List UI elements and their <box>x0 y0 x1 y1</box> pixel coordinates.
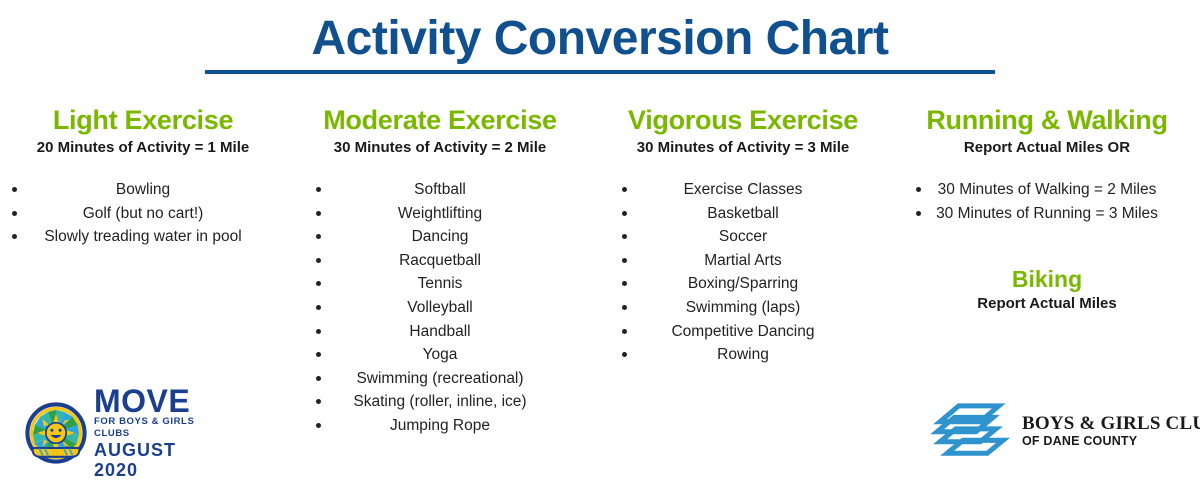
list-item: 30 Minutes of Walking = 2 Miles <box>902 178 1192 202</box>
list-item: Weightlifting <box>298 202 582 226</box>
bullet-icon <box>316 211 321 216</box>
bullet-icon <box>916 187 921 192</box>
clasped-hands-mark-icon <box>930 400 1016 462</box>
column-light-exercise: Light Exercise 20 Minutes of Activity = … <box>0 104 288 249</box>
list-item: Bowling <box>4 178 282 202</box>
column-heading: Light Exercise <box>4 104 282 136</box>
list-item-label: Bowling <box>8 178 278 202</box>
list-item: Jumping Rope <box>298 414 582 438</box>
bgc-name: BOYS & GIRLS CLUBS <box>1022 413 1200 434</box>
sun-sneaker-emblem-icon <box>22 399 90 467</box>
list-item-label: Swimming (laps) <box>606 296 880 320</box>
boys-girls-clubs-logo: BOYS & GIRLS CLUBS OF DANE COUNTY <box>930 396 1188 466</box>
column-heading: Moderate Exercise <box>298 104 582 136</box>
list-item-label: Martial Arts <box>606 249 880 273</box>
title-underline-rule <box>205 70 995 74</box>
list-item-label: Golf (but no cart!) <box>8 202 278 226</box>
list-item: Handball <box>298 320 582 344</box>
bullet-icon <box>622 187 627 192</box>
list-item-label: Handball <box>302 320 578 344</box>
list-item: Slowly treading water in pool <box>4 225 282 249</box>
activity-conversion-chart-page: Activity Conversion Chart Light Exercise… <box>0 0 1200 480</box>
list-item: Tennis <box>298 272 582 296</box>
bgc-wordmark: BOYS & GIRLS CLUBS OF DANE COUNTY <box>1022 413 1200 449</box>
list-item: Swimming (recreational) <box>298 367 582 391</box>
move-tagline: FOR BOYS & GIRLS CLUBS <box>94 416 222 440</box>
list-item: Competitive Dancing <box>602 320 884 344</box>
list-item: Rowing <box>602 343 884 367</box>
bullet-icon <box>916 211 921 216</box>
bullet-icon <box>316 258 321 263</box>
column-subheading: 20 Minutes of Activity = 1 Mile <box>4 138 282 158</box>
biking-subheading: Report Actual Miles <box>902 294 1192 314</box>
move-date: AUGUST 2020 <box>94 440 222 480</box>
list-item-label: 30 Minutes of Running = 3 Miles <box>906 202 1188 226</box>
list-item-label: Soccer <box>606 225 880 249</box>
list-item-label: Slowly treading water in pool <box>8 225 278 249</box>
list-item-label: Yoga <box>302 343 578 367</box>
bullet-icon <box>316 187 321 192</box>
list-item-label: Racquetball <box>302 249 578 273</box>
list-item-label: Tennis <box>302 272 578 296</box>
list-item-label: Weightlifting <box>302 202 578 226</box>
list-item: Soccer <box>602 225 884 249</box>
move-logo: MOVE FOR BOYS & GIRLS CLUBS AUGUST 2020 <box>22 396 222 470</box>
column-heading: Running & Walking <box>902 104 1192 136</box>
list-item-label: Exercise Classes <box>606 178 880 202</box>
list-item: Golf (but no cart!) <box>4 202 282 226</box>
column-vigorous-exercise: Vigorous Exercise 30 Minutes of Activity… <box>588 104 890 367</box>
list-item: Boxing/Sparring <box>602 272 884 296</box>
activity-list: 30 Minutes of Walking = 2 Miles 30 Minut… <box>902 178 1192 225</box>
list-item-label: Competitive Dancing <box>606 320 880 344</box>
bullet-icon <box>622 329 627 334</box>
list-item: Exercise Classes <box>602 178 884 202</box>
list-item-label: Swimming (recreational) <box>302 367 578 391</box>
list-item: Swimming (laps) <box>602 296 884 320</box>
move-word: MOVE <box>94 386 222 416</box>
list-item-label: Boxing/Sparring <box>606 272 880 296</box>
list-item: Softball <box>298 178 582 202</box>
list-item: Skating (roller, inline, ice) <box>298 390 582 414</box>
activity-list: Exercise Classes Basketball Soccer Marti… <box>602 178 884 367</box>
bullet-icon <box>316 376 321 381</box>
list-item-label: Jumping Rope <box>302 414 578 438</box>
list-item: Volleyball <box>298 296 582 320</box>
list-item: 30 Minutes of Running = 3 Miles <box>902 202 1192 226</box>
column-running-walking: Running & Walking Report Actual Miles OR… <box>890 104 1200 314</box>
bullet-icon <box>622 305 627 310</box>
list-item: Dancing <box>298 225 582 249</box>
column-moderate-exercise: Moderate Exercise 30 Minutes of Activity… <box>288 104 588 438</box>
title-block: Activity Conversion Chart <box>0 12 1200 66</box>
bullet-icon <box>622 211 627 216</box>
list-item: Yoga <box>298 343 582 367</box>
move-wordmark: MOVE FOR BOYS & GIRLS CLUBS AUGUST 2020 <box>94 386 222 480</box>
bullet-icon <box>316 305 321 310</box>
list-item-label: 30 Minutes of Walking = 2 Miles <box>906 178 1188 202</box>
activity-list: Bowling Golf (but no cart!) Slowly tread… <box>4 178 282 249</box>
list-item-label: Softball <box>302 178 578 202</box>
column-subheading: Report Actual Miles OR <box>902 138 1192 158</box>
bullet-icon <box>316 423 321 428</box>
activity-list: Softball Weightlifting Dancing Racquetba… <box>298 178 582 438</box>
bullet-icon <box>316 329 321 334</box>
column-subheading: 30 Minutes of Activity = 3 Mile <box>602 138 884 158</box>
list-item-label: Skating (roller, inline, ice) <box>302 390 578 414</box>
biking-block: Biking Report Actual Miles <box>902 265 1192 314</box>
list-item-label: Volleyball <box>302 296 578 320</box>
column-subheading: 30 Minutes of Activity = 2 Mile <box>298 138 582 158</box>
list-item: Martial Arts <box>602 249 884 273</box>
biking-heading: Biking <box>902 265 1192 293</box>
bullet-icon <box>12 187 17 192</box>
bullet-icon <box>12 211 17 216</box>
list-item: Basketball <box>602 202 884 226</box>
column-heading: Vigorous Exercise <box>602 104 884 136</box>
list-item: Racquetball <box>298 249 582 273</box>
list-item-label: Rowing <box>606 343 880 367</box>
page-title: Activity Conversion Chart <box>0 12 1200 66</box>
list-item-label: Dancing <box>302 225 578 249</box>
bgc-sub: OF DANE COUNTY <box>1022 434 1200 449</box>
bullet-icon <box>622 258 627 263</box>
list-item-label: Basketball <box>606 202 880 226</box>
